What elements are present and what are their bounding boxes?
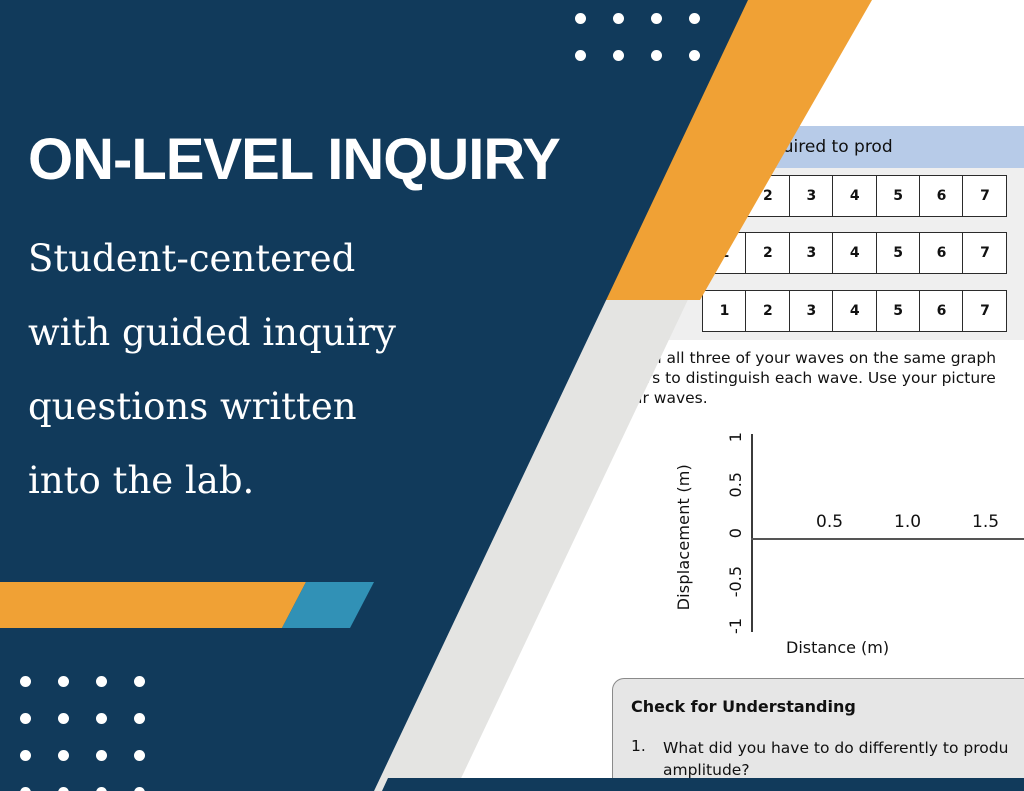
- decorative-dot: [134, 713, 145, 724]
- decorative-dot: [20, 676, 31, 687]
- decorative-dot: [96, 750, 107, 761]
- decorative-dot: [134, 787, 145, 791]
- decorative-dot: [58, 676, 69, 687]
- decorative-dot: [96, 713, 107, 724]
- decorative-dot: [20, 750, 31, 761]
- decorative-dot: [58, 713, 69, 724]
- decorative-dot: [134, 750, 145, 761]
- decorative-dot: [96, 787, 107, 791]
- decorative-dot: [96, 676, 107, 687]
- decorative-dot: [20, 787, 31, 791]
- decorative-dot: [20, 713, 31, 724]
- decorative-dot: [134, 676, 145, 687]
- dot-grid-bottom-left: [0, 0, 1024, 791]
- decorative-dot: [58, 750, 69, 761]
- slide-canvas: ude Energy required to prod n 1 2 3 4 5 …: [0, 0, 1024, 791]
- decorative-dot: [58, 787, 69, 791]
